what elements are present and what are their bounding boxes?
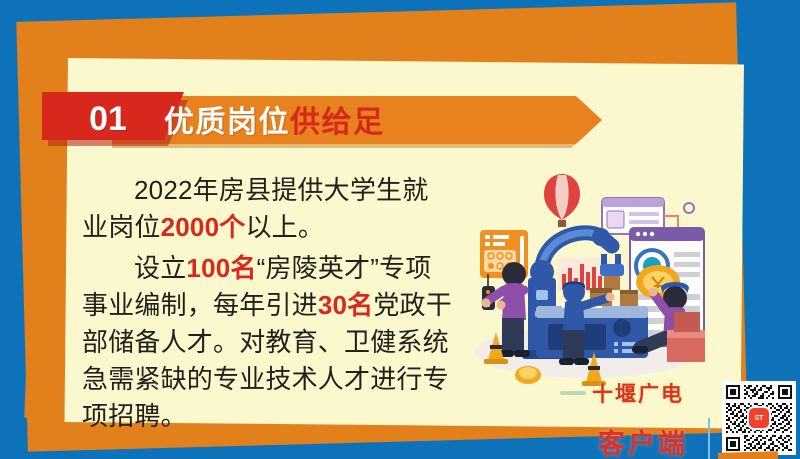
qr-center-logo: ST: [749, 408, 769, 428]
body-copy: 2022年房县提供大学生就业岗位2000个以上。设立100名“房陵英才”专项事业…: [82, 172, 452, 439]
highlighted-figure: 30名: [318, 290, 374, 320]
bottom-orange-accent: [718, 451, 778, 459]
app-client-label: 客户端: [598, 422, 688, 459]
watermark-dash-icon: [560, 391, 586, 395]
heading-secondary: 供给足: [290, 97, 385, 141]
body-paragraph: 2022年房县提供大学生就业岗位2000个以上。: [82, 172, 452, 246]
qr-code[interactable]: ST: [722, 381, 796, 455]
section-number: 01: [67, 96, 149, 142]
highlighted-figure: 2000个: [161, 212, 246, 242]
highlighted-figure: 100名: [186, 253, 256, 283]
body-text-run: 设立: [134, 253, 186, 283]
body-paragraph: 设立100名“房陵英才”专项事业编制，每年引进30名党政干部储备人才。对教育、卫…: [82, 250, 452, 435]
body-text-run: 以上。: [245, 212, 324, 242]
broadcaster-watermark: 十堰广电: [560, 378, 684, 408]
balloon-icon: [544, 174, 580, 227]
infographic-poster: 01 优质岗位供给足 2022年房县提供大学生就业岗位2000个以上。设立100…: [0, 0, 800, 459]
vertical-divider: [708, 418, 710, 459]
section-header-banner: 01 优质岗位供给足: [42, 90, 602, 148]
watermark-text: 十堰广电: [592, 383, 684, 406]
section-heading: 优质岗位供给足: [164, 94, 385, 144]
heading-primary: 优质岗位: [164, 97, 290, 141]
